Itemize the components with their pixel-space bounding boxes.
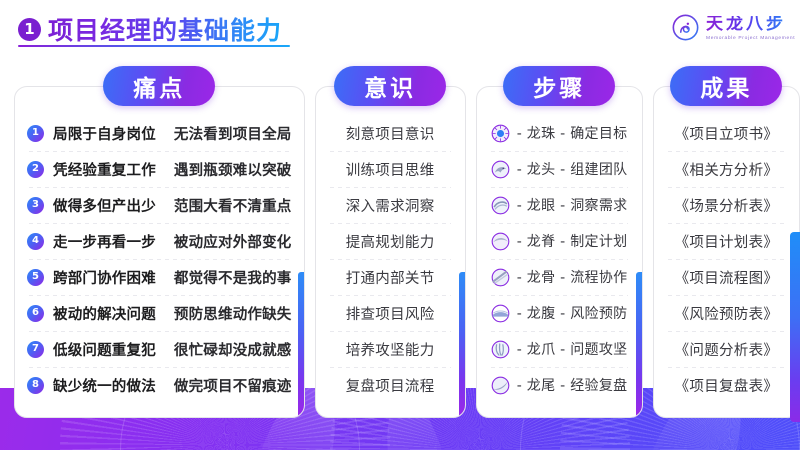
column-awareness: 意识 刻意项目意识 训练项目思维 深入需求洞察 提高规划能力 打通内部关节 排查… — [315, 66, 466, 418]
column-card-pain: 1 局限于自身岗位 无法看到项目全局 2 凭经验重复工作 遇到瓶颈难以突破 3 … — [14, 86, 305, 418]
item-label: 《问题分析表》 — [675, 339, 779, 360]
item-label: 《项目流程图》 — [675, 267, 779, 288]
list-item[interactable]: 复盘项目流程 — [316, 367, 465, 403]
item-label: - 龙尾 - 经验复盘 — [517, 375, 628, 395]
title-underline — [18, 45, 290, 47]
list-item[interactable]: 《场景分析表》 — [654, 187, 799, 223]
table-row[interactable]: 3 做得多但产出少 范围大看不清重点 — [15, 187, 304, 223]
list-item[interactable]: - 龙腹 - 风险预防 — [477, 295, 642, 331]
row-secondary-text: 遇到瓶颈难以突破 — [174, 159, 292, 180]
brand-name: 天龙八步 — [706, 16, 786, 34]
item-label: 打通内部关节 — [346, 267, 435, 288]
column-card-awareness: 刻意项目意识 训练项目思维 深入需求洞察 提高规划能力 打通内部关节 排查项目风… — [315, 86, 466, 418]
list-item[interactable]: - 龙骨 - 流程协作 — [477, 259, 642, 295]
row-index-badge: 3 — [27, 197, 44, 214]
dragon-circle-logo-icon — [672, 14, 699, 41]
list-item[interactable]: 深入需求洞察 — [316, 187, 465, 223]
row-secondary-text: 范围大看不清重点 — [174, 195, 292, 216]
column-pain: 痛点 1 局限于自身岗位 无法看到项目全局 2 凭经验重复工作 遇到瓶颈难以突破… — [14, 66, 305, 418]
section-number-badge: 1 — [18, 18, 41, 41]
row-secondary-text: 都觉得不是我的事 — [174, 267, 292, 288]
item-label: 《场景分析表》 — [675, 195, 779, 216]
item-label: - 龙眼 - 洞察需求 — [517, 195, 628, 215]
item-label: 培养攻坚能力 — [346, 339, 435, 360]
page-header: 1 项目经理的基础能力 天龙八步 Memorable Project Manag… — [0, 0, 800, 58]
columns-board: 痛点 1 局限于自身岗位 无法看到项目全局 2 凭经验重复工作 遇到瓶颈难以突破… — [0, 66, 800, 421]
item-label: 复盘项目流程 — [346, 375, 435, 396]
row-primary-text: 被动的解决问题 — [53, 303, 156, 324]
row-primary-text: 局限于自身岗位 — [53, 123, 156, 144]
item-label: 《风险预防表》 — [675, 303, 779, 324]
item-label: - 龙骨 - 流程协作 — [517, 267, 628, 287]
page-title: 项目经理的基础能力 — [48, 11, 282, 47]
dragon-belly-icon — [491, 304, 510, 323]
list-item[interactable]: 《相关方分析》 — [654, 151, 799, 187]
list-item[interactable]: 《风险预防表》 — [654, 295, 799, 331]
row-index-badge: 2 — [27, 161, 44, 178]
list-item[interactable]: 打通内部关节 — [316, 259, 465, 295]
item-label: 深入需求洞察 — [346, 195, 435, 216]
row-primary-text: 缺少统一的做法 — [53, 375, 156, 396]
row-primary-text: 走一步再看一步 — [53, 231, 156, 252]
page-edge-accent-stripe — [790, 232, 800, 422]
dragon-claw-icon — [491, 340, 510, 359]
row-primary-text: 低级问题重复犯 — [53, 339, 156, 360]
dragon-pearl-icon — [491, 124, 510, 143]
item-label: 排查项目风险 — [346, 303, 435, 324]
row-secondary-text: 很忙碌却没成就感 — [174, 339, 292, 360]
list-item[interactable]: - 龙珠 - 确定目标 — [477, 115, 642, 151]
dragon-head-icon — [491, 160, 510, 179]
table-row[interactable]: 2 凭经验重复工作 遇到瓶颈难以突破 — [15, 151, 304, 187]
column-header-steps[interactable]: 步骤 — [503, 66, 615, 106]
brand-logo: 天龙八步 Memorable Project Management — [672, 14, 786, 41]
brand-text: 天龙八步 Memorable Project Management — [706, 16, 786, 40]
list-item[interactable]: 排查项目风险 — [316, 295, 465, 331]
column-steps: 步骤 - 龙珠 - 确定目标 — [476, 66, 643, 418]
table-row[interactable]: 4 走一步再看一步 被动应对外部变化 — [15, 223, 304, 259]
list-item[interactable]: - 龙尾 - 经验复盘 — [477, 367, 642, 403]
row-index-badge: 8 — [27, 377, 44, 394]
row-primary-text: 做得多但产出少 — [53, 195, 156, 216]
table-row[interactable]: 5 跨部门协作困难 都觉得不是我的事 — [15, 259, 304, 295]
row-secondary-text: 做完项目不留痕迹 — [174, 375, 292, 396]
row-secondary-text: 被动应对外部变化 — [174, 231, 292, 252]
item-label: - 龙头 - 组建团队 — [517, 159, 628, 179]
row-primary-text: 跨部门协作困难 — [53, 267, 156, 288]
list-item[interactable]: 《项目复盘表》 — [654, 367, 799, 403]
deliverables-rows: 《项目立项书》 《相关方分析》 《场景分析表》 《项目计划表》 《项目流程图》 … — [654, 115, 799, 403]
item-label: - 龙脊 - 制定计划 — [517, 231, 628, 251]
row-primary-text: 凭经验重复工作 — [53, 159, 156, 180]
column-card-steps: - 龙珠 - 确定目标 - 龙头 - 组建团队 — [476, 86, 643, 418]
column-card-deliverables: 《项目立项书》 《相关方分析》 《场景分析表》 《项目计划表》 《项目流程图》 … — [653, 86, 800, 418]
table-row[interactable]: 1 局限于自身岗位 无法看到项目全局 — [15, 115, 304, 151]
item-label: 《相关方分析》 — [675, 159, 779, 180]
list-item[interactable]: 《项目立项书》 — [654, 115, 799, 151]
dragon-spine-icon — [491, 232, 510, 251]
item-label: 《项目复盘表》 — [675, 375, 779, 396]
steps-rows: - 龙珠 - 确定目标 - 龙头 - 组建团队 — [477, 115, 642, 403]
list-item[interactable]: 提高规划能力 — [316, 223, 465, 259]
row-index-badge: 4 — [27, 233, 44, 250]
list-item[interactable]: 《项目计划表》 — [654, 223, 799, 259]
column-header-awareness[interactable]: 意识 — [334, 66, 446, 106]
column-deliverables: 成果 《项目立项书》 《相关方分析》 《场景分析表》 《项目计划表》 《项目流程… — [653, 66, 800, 418]
dragon-tail-icon — [491, 376, 510, 395]
item-label: 《项目立项书》 — [675, 123, 779, 144]
item-label: 刻意项目意识 — [346, 123, 435, 144]
dragon-eye-icon — [491, 196, 510, 215]
item-label: 训练项目思维 — [346, 159, 435, 180]
brand-subtitle: Memorable Project Management — [706, 35, 795, 40]
list-item[interactable]: 刻意项目意识 — [316, 115, 465, 151]
item-label: 《项目计划表》 — [675, 231, 779, 252]
list-item[interactable]: - 龙头 - 组建团队 — [477, 151, 642, 187]
list-item[interactable]: 《项目流程图》 — [654, 259, 799, 295]
row-index-badge: 1 — [27, 125, 44, 142]
list-item[interactable]: 《问题分析表》 — [654, 331, 799, 367]
list-item[interactable]: 训练项目思维 — [316, 151, 465, 187]
table-row[interactable]: 7 低级问题重复犯 很忙碌却没成就感 — [15, 331, 304, 367]
table-row[interactable]: 6 被动的解决问题 预防思维动作缺失 — [15, 295, 304, 331]
item-label: - 龙珠 - 确定目标 — [517, 123, 628, 143]
list-item[interactable]: 培养攻坚能力 — [316, 331, 465, 367]
awareness-rows: 刻意项目意识 训练项目思维 深入需求洞察 提高规划能力 打通内部关节 排查项目风… — [316, 115, 465, 403]
item-label: - 龙爪 - 问题攻坚 — [517, 339, 628, 359]
item-label: 提高规划能力 — [346, 231, 435, 252]
title-block: 1 项目经理的基础能力 — [18, 11, 282, 47]
column-header-pain[interactable]: 痛点 — [103, 66, 215, 106]
row-index-badge: 5 — [27, 269, 44, 286]
row-secondary-text: 预防思维动作缺失 — [174, 303, 292, 324]
row-secondary-text: 无法看到项目全局 — [174, 123, 292, 144]
pain-rows: 1 局限于自身岗位 无法看到项目全局 2 凭经验重复工作 遇到瓶颈难以突破 3 … — [15, 115, 304, 403]
list-item[interactable]: - 龙眼 - 洞察需求 — [477, 187, 642, 223]
row-index-badge: 7 — [27, 341, 44, 358]
dragon-bone-icon — [491, 268, 510, 287]
list-item[interactable]: - 龙脊 - 制定计划 — [477, 223, 642, 259]
list-item[interactable]: - 龙爪 - 问题攻坚 — [477, 331, 642, 367]
item-label: - 龙腹 - 风险预防 — [517, 303, 628, 323]
row-index-badge: 6 — [27, 305, 44, 322]
table-row[interactable]: 8 缺少统一的做法 做完项目不留痕迹 — [15, 367, 304, 403]
column-header-deliverables[interactable]: 成果 — [670, 66, 782, 106]
